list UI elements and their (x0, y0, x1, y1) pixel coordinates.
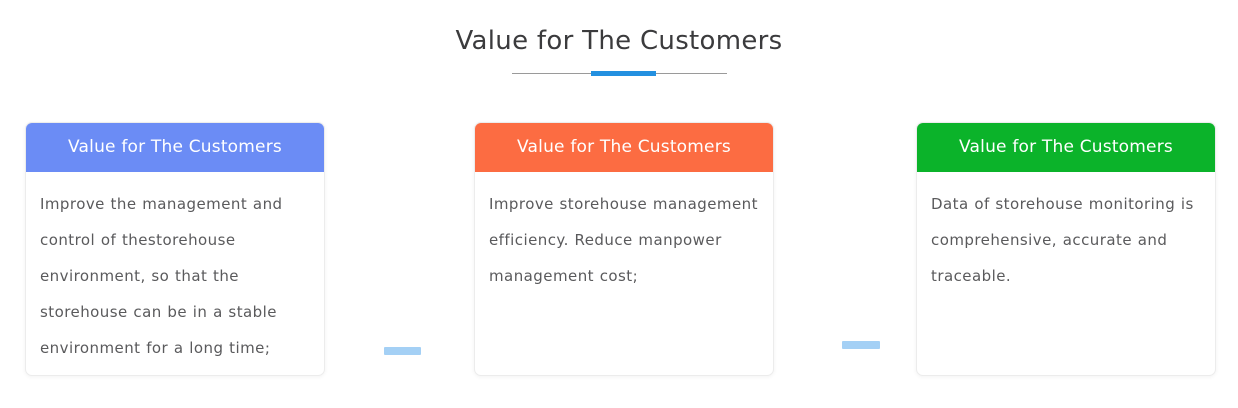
value-card-2: Value for The Customers Improve storehou… (474, 122, 774, 376)
value-card-1-body: Improve the management and control of th… (26, 172, 324, 366)
value-card-2-header: Value for The Customers (474, 122, 774, 172)
title-underline-rule (512, 69, 727, 78)
card-connector-1 (384, 347, 421, 355)
value-card-3-body: Data of storehouse monitoring is compreh… (917, 172, 1215, 294)
title-rule-accent (591, 71, 656, 76)
value-card-3: Value for The Customers Data of storehou… (916, 122, 1216, 376)
card-connector-2 (842, 341, 880, 349)
value-card-1-header: Value for The Customers (25, 122, 325, 172)
page-header: Value for The Customers (0, 0, 1238, 78)
value-card-2-body: Improve storehouse management efficiency… (475, 172, 773, 294)
value-cards-row: Value for The Customers Improve the mana… (0, 122, 1238, 378)
value-card-3-header: Value for The Customers (916, 122, 1216, 172)
page-title: Value for The Customers (0, 24, 1238, 58)
value-card-1: Value for The Customers Improve the mana… (25, 122, 325, 376)
